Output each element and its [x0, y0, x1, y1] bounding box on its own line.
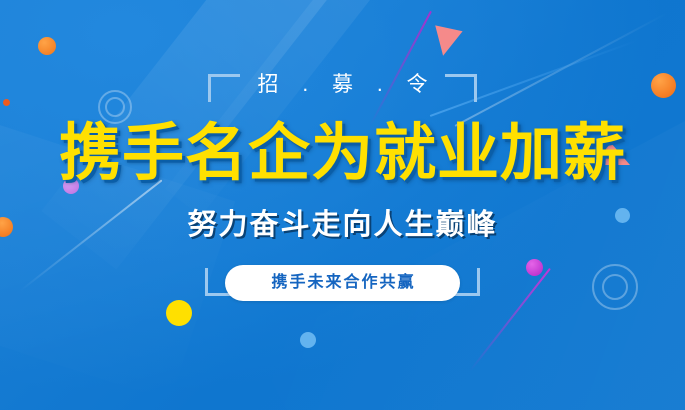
- dot-orange-top-left: [38, 37, 56, 55]
- eyebrow-text: 招 . 募 . 令: [0, 70, 685, 100]
- cta-container: 携手未来合作共赢: [0, 265, 685, 301]
- cta-button[interactable]: 携手未来合作共赢: [225, 265, 459, 301]
- dot-lightblue-bottom-mid: [300, 332, 316, 348]
- headline-title: 携手名企为就业加薪: [0, 117, 685, 191]
- dot-orange-tiny-left: [3, 99, 10, 106]
- triangle-down-icon: [429, 25, 462, 58]
- purple-streak-top-center: [369, 11, 432, 127]
- recruitment-banner: 招 . 募 . 令 携手名企为就业加薪 努力奋斗走向人生巅峰 携手未来合作共赢: [0, 0, 685, 410]
- dot-yellow-bottom-left: [166, 300, 192, 326]
- subheadline: 努力奋斗走向人生巅峰: [0, 206, 685, 244]
